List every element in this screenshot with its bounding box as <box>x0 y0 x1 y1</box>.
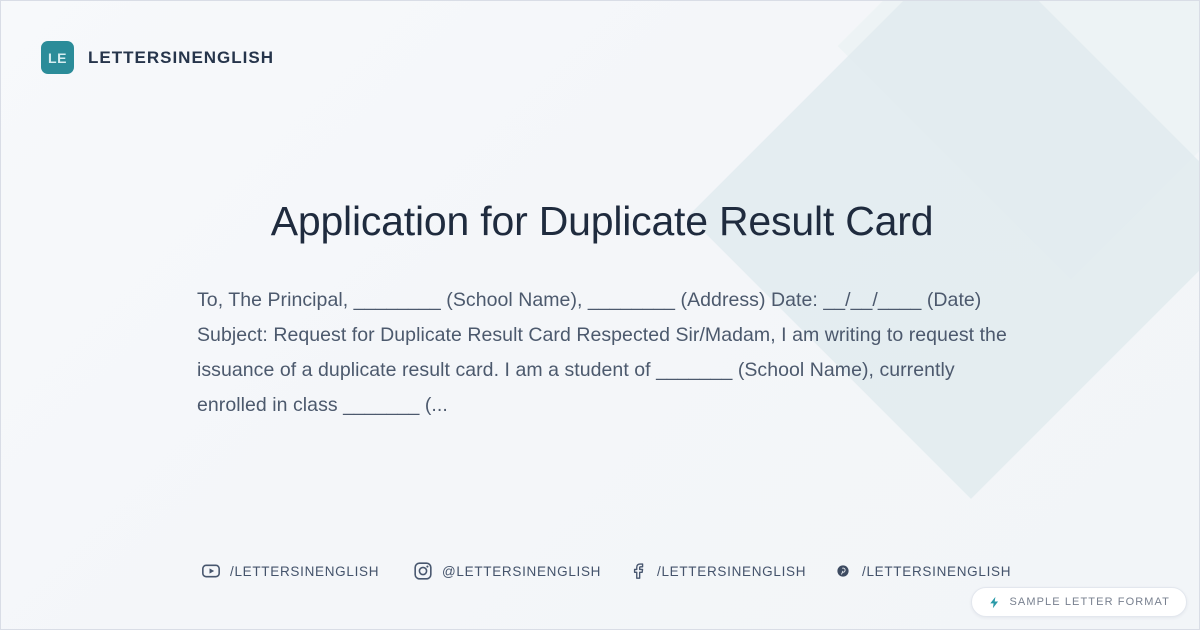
brand-logo[interactable]: LE LETTERSINENGLISH <box>41 41 274 74</box>
page-title: Application for Duplicate Result Card <box>197 197 1007 245</box>
youtube-icon <box>201 561 221 581</box>
social-links-row: /LETTERSINENGLISH @LETTERSINENGLISH /LET… <box>201 561 1011 581</box>
social-handle: /LETTERSINENGLISH <box>862 564 1011 579</box>
pinterest-icon <box>833 564 853 578</box>
badge-label: SAMPLE LETTER FORMAT <box>1009 596 1170 608</box>
card-content: Application for Duplicate Result Card To… <box>197 197 1007 423</box>
social-handle: @LETTERSINENGLISH <box>442 564 601 579</box>
social-handle: /LETTERSINENGLISH <box>657 564 806 579</box>
lightning-bolt-icon <box>988 595 1001 610</box>
facebook-icon <box>628 561 648 581</box>
article-excerpt: To, The Principal, ________ (School Name… <box>197 283 1007 423</box>
brand-name: LETTERSINENGLISH <box>88 48 274 68</box>
sample-letter-format-badge[interactable]: SAMPLE LETTER FORMAT <box>971 587 1187 617</box>
social-link-facebook[interactable]: /LETTERSINENGLISH <box>628 561 833 581</box>
brand-badge-icon: LE <box>41 41 74 74</box>
social-link-youtube[interactable]: /LETTERSINENGLISH <box>201 561 413 581</box>
social-link-instagram[interactable]: @LETTERSINENGLISH <box>413 561 628 581</box>
social-share-card: LE LETTERSINENGLISH Application for Dupl… <box>0 0 1200 630</box>
social-link-pinterest[interactable]: /LETTERSINENGLISH <box>833 564 1011 579</box>
instagram-icon <box>413 561 433 581</box>
social-handle: /LETTERSINENGLISH <box>230 564 379 579</box>
